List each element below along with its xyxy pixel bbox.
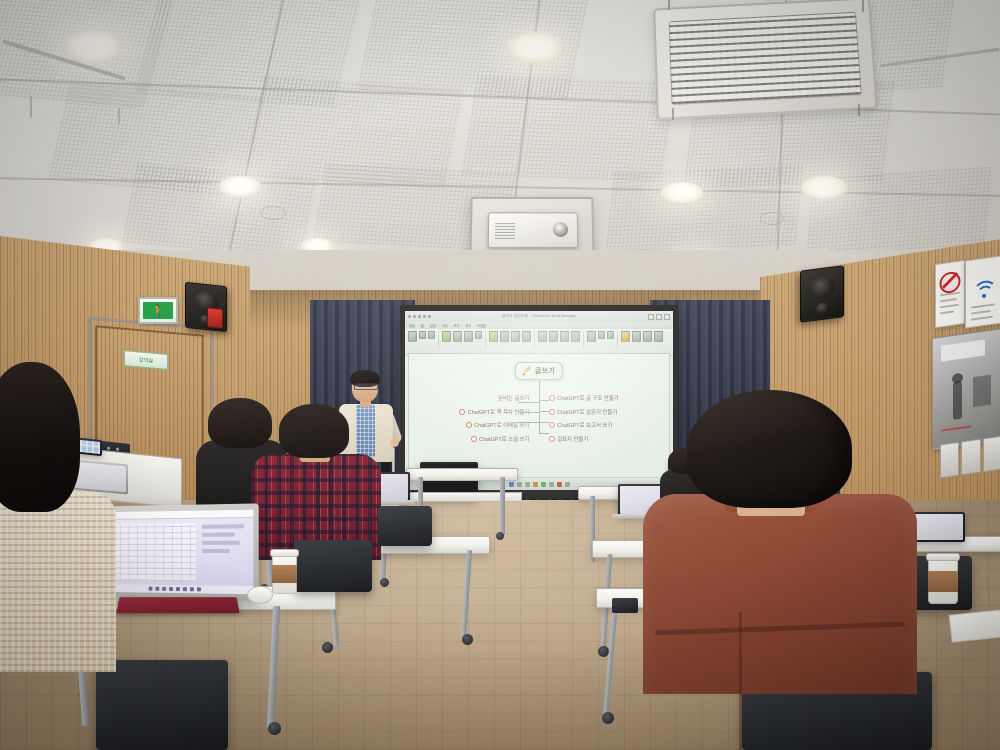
icon-library-icon[interactable] <box>549 331 558 342</box>
line-icon[interactable] <box>511 331 520 342</box>
laptop-screen-foreground[interactable] <box>100 510 253 595</box>
ribbon-group-tools[interactable] <box>621 331 666 348</box>
zoom-in-icon[interactable] <box>598 331 605 339</box>
minimize-button[interactable] <box>648 314 654 320</box>
projector-lens <box>553 222 568 237</box>
mindmap-branch-right-4[interactable]: 겉표지 만들기 <box>549 435 589 443</box>
ribbon-group-clipboard[interactable] <box>408 331 439 348</box>
ceiling-downlight <box>800 176 848 200</box>
ceiling-downlight <box>218 176 262 198</box>
branch-label: ChatGPT로 보고서 쓰기 <box>557 421 612 429</box>
taskbar-app-icon[interactable] <box>549 482 554 487</box>
branch-bullet-icon <box>549 422 555 428</box>
ribbon-tab-format[interactable]: 서식 <box>442 323 448 328</box>
mindmap-branch-left-4[interactable]: ChatGPT로 소설 쓰기 <box>471 435 530 443</box>
taskbar-mail-icon[interactable] <box>541 482 546 487</box>
branch-label: ChatGPT로 소설 쓰기 <box>479 435 529 443</box>
no-smoking-poster <box>935 260 965 328</box>
cup-lid-loose[interactable] <box>247 586 273 604</box>
paper-sheet[interactable] <box>949 609 1000 642</box>
mindmap-canvas[interactable]: 글쓰기 돈버는 글쓰기 ChatGPT로 책 목차 만들기 ChatGPT로 이… <box>408 353 670 478</box>
highlight-icon[interactable] <box>621 331 630 342</box>
ribbon-tab-insert[interactable]: 삽입 <box>430 323 436 328</box>
glasses-icon <box>354 383 378 390</box>
ribbon-group-view[interactable] <box>587 331 618 348</box>
fill-icon[interactable] <box>522 331 531 342</box>
ceiling-projector <box>488 212 579 247</box>
branch-label: 돈버는 글쓰기 <box>498 394 529 402</box>
taskbar-mindmap-icon[interactable] <box>557 482 562 487</box>
ac-grille <box>669 12 862 105</box>
branch-bullet-icon <box>549 395 555 401</box>
ribbon-tab-help[interactable]: 도움말 <box>477 323 486 328</box>
branch-bullet-icon <box>549 436 555 442</box>
maximize-button[interactable] <box>656 314 662 320</box>
branch-bullet-icon <box>459 409 465 415</box>
ceiling-downlight <box>660 182 704 204</box>
ceiling-air-conditioner <box>653 0 878 120</box>
taskbar-browser-icon[interactable] <box>533 482 538 487</box>
mindmap-branch-right-3[interactable]: ChatGPT로 보고서 쓰기 <box>549 421 613 429</box>
note-icon[interactable] <box>475 331 482 339</box>
coffee-cup-right[interactable] <box>928 556 958 604</box>
attendee-front-left <box>0 362 108 662</box>
laptop-app-toolbar[interactable] <box>100 510 253 520</box>
zoom-out-icon[interactable] <box>607 331 614 339</box>
outline-view-icon[interactable] <box>587 331 596 342</box>
chair-front-left <box>96 660 228 750</box>
lecture-room-photo: 강의실 🚶 <box>0 0 1000 750</box>
branch-bullet-icon <box>549 409 555 415</box>
ribbon-group-insert[interactable] <box>538 331 584 348</box>
ribbon-tab-home[interactable]: 홈 <box>421 323 424 328</box>
coffee-cup-center[interactable] <box>272 552 297 594</box>
projector-vent <box>495 221 515 239</box>
branch-label: ChatGPT로 글 구조 만들기 <box>557 394 619 402</box>
branch-label: ChatGPT로 설문지 만들기 <box>557 408 617 416</box>
paste-icon[interactable] <box>408 331 417 342</box>
ribbon-tab-view[interactable]: 보기 <box>465 323 471 328</box>
slide-app-title: 글쓰기 마인드맵 - ThinkWise Mind Manager <box>433 314 646 319</box>
ceiling-downlight <box>62 30 124 64</box>
ribbon-tab-file[interactable]: 파일 <box>409 323 415 328</box>
running-man-icon: 🚶 <box>143 302 173 319</box>
hyperlink-icon[interactable] <box>571 331 580 342</box>
mindmap-spine <box>539 396 540 434</box>
filter-icon[interactable] <box>643 331 652 342</box>
mindmap-stem <box>539 380 540 396</box>
spreadsheet-grid[interactable] <box>103 523 196 581</box>
mindmap-root-label: 글쓰기 <box>535 366 555 376</box>
ribbon-tab-tools[interactable]: 도구 <box>454 323 460 328</box>
mindmap-root-node[interactable]: 글쓰기 <box>515 362 563 380</box>
taskbar-search-icon[interactable] <box>517 482 522 487</box>
laptop-foreground-left[interactable] <box>96 503 259 601</box>
attach-icon[interactable] <box>560 331 569 342</box>
taskbar-start-icon[interactable] <box>509 482 514 487</box>
close-button[interactable] <box>664 314 670 320</box>
attendee-front-right <box>645 390 915 690</box>
exit-sign: 🚶 <box>138 297 178 324</box>
chair-mid-right <box>378 506 432 546</box>
slide-ribbon-toolbar <box>405 329 673 356</box>
taskbar-explorer-icon[interactable] <box>525 482 530 487</box>
relation-icon[interactable] <box>464 331 473 342</box>
add-topic-icon[interactable] <box>442 331 451 342</box>
pencil-icon <box>523 367 532 376</box>
subtopic-icon[interactable] <box>453 331 462 342</box>
sidebar-panel[interactable] <box>201 524 249 580</box>
shape-icon[interactable] <box>500 331 509 342</box>
slide-ribbon-tabs: 파일 홈 삽입 서식 도구 보기 도움말 <box>405 322 673 329</box>
attendee-mid-plaid <box>255 404 375 554</box>
ceiling-downlight <box>505 32 565 64</box>
taskbar-tray-icon[interactable] <box>565 482 570 487</box>
phone-on-desk[interactable] <box>612 598 638 613</box>
red-notebook[interactable] <box>116 597 239 613</box>
theme-icon[interactable] <box>489 331 498 342</box>
wifi-poster <box>965 255 1000 328</box>
chair-mid-left <box>294 540 372 592</box>
fire-alarm[interactable] <box>207 307 223 329</box>
ribbon-group-style[interactable] <box>489 331 535 348</box>
mindmap-branch-right-1[interactable]: ChatGPT로 글 구조 만들기 <box>549 394 619 402</box>
sort-icon[interactable] <box>632 331 641 342</box>
ribbon-group-topic[interactable] <box>442 331 486 348</box>
safety-poster <box>932 328 1000 450</box>
branch-bullet-icon <box>466 422 472 428</box>
help-icon[interactable] <box>654 331 663 342</box>
mindmap-right-branches: ChatGPT로 글 구조 만들기 ChatGPT로 설문지 만들기 ChatG… <box>542 394 619 443</box>
presenter-right-hand <box>390 438 399 447</box>
cut-icon[interactable] <box>419 331 426 339</box>
branch-label: 겉표지 만들기 <box>557 435 588 443</box>
branch-bullet-icon <box>471 436 477 442</box>
mindmap-branch-right-2[interactable]: ChatGPT로 설문지 만들기 <box>549 408 618 416</box>
copy-icon[interactable] <box>428 331 435 339</box>
wall-speaker-right <box>800 265 844 322</box>
image-icon[interactable] <box>538 331 547 342</box>
mindmap-branch-left-1[interactable]: 돈버는 글쓰기 <box>498 394 529 402</box>
